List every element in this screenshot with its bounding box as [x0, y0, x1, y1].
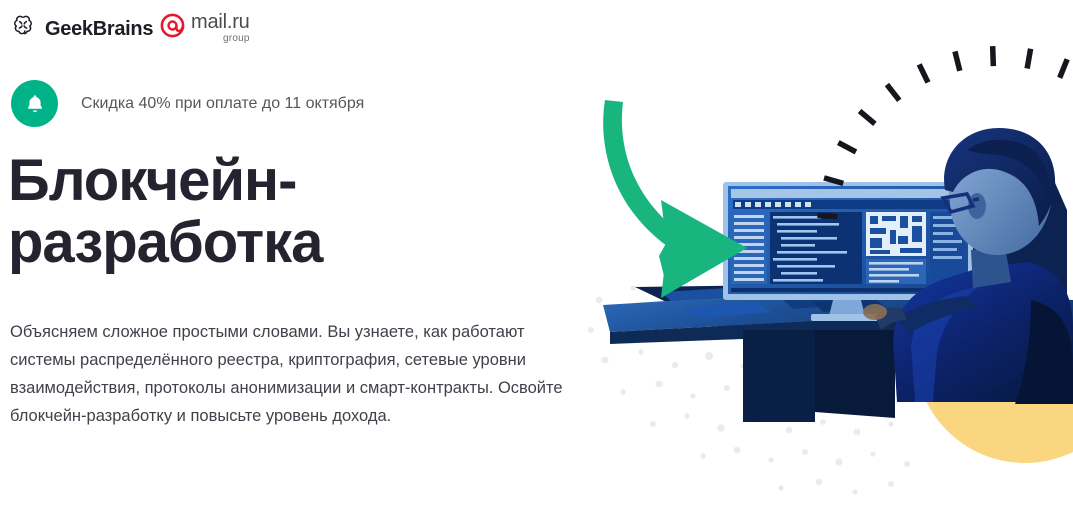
mailru-wordmark-block: mail.ru group [191, 12, 250, 44]
geekbrains-logo[interactable]: GeekBrains [10, 13, 153, 44]
developer-at-monitor-illustration [575, 0, 1073, 518]
mailru-wordmark: mail.ru [191, 12, 250, 32]
desk-leg [743, 330, 815, 422]
brain-icon [10, 13, 36, 44]
mailru-group-subtitle: group [223, 33, 250, 44]
bell-icon [11, 80, 58, 127]
hero-description: Объясняем сложное простыми словами. Вы у… [10, 318, 590, 430]
mailru-group-logo[interactable]: mail.ru group [160, 12, 250, 44]
at-sign-icon [160, 13, 185, 43]
hero-landing-page: GeekBrains mail.ru group Скидка [0, 0, 1073, 518]
geekbrains-wordmark: GeekBrains [45, 19, 153, 39]
logo-bar: GeekBrains mail.ru group [0, 0, 560, 58]
promo-text: Скидка 40% при оплате до 11 октября [81, 94, 364, 114]
page-title: Блокчейн-разработка [8, 150, 488, 274]
promo-banner[interactable]: Скидка 40% при оплате до 11 октября [11, 80, 364, 127]
